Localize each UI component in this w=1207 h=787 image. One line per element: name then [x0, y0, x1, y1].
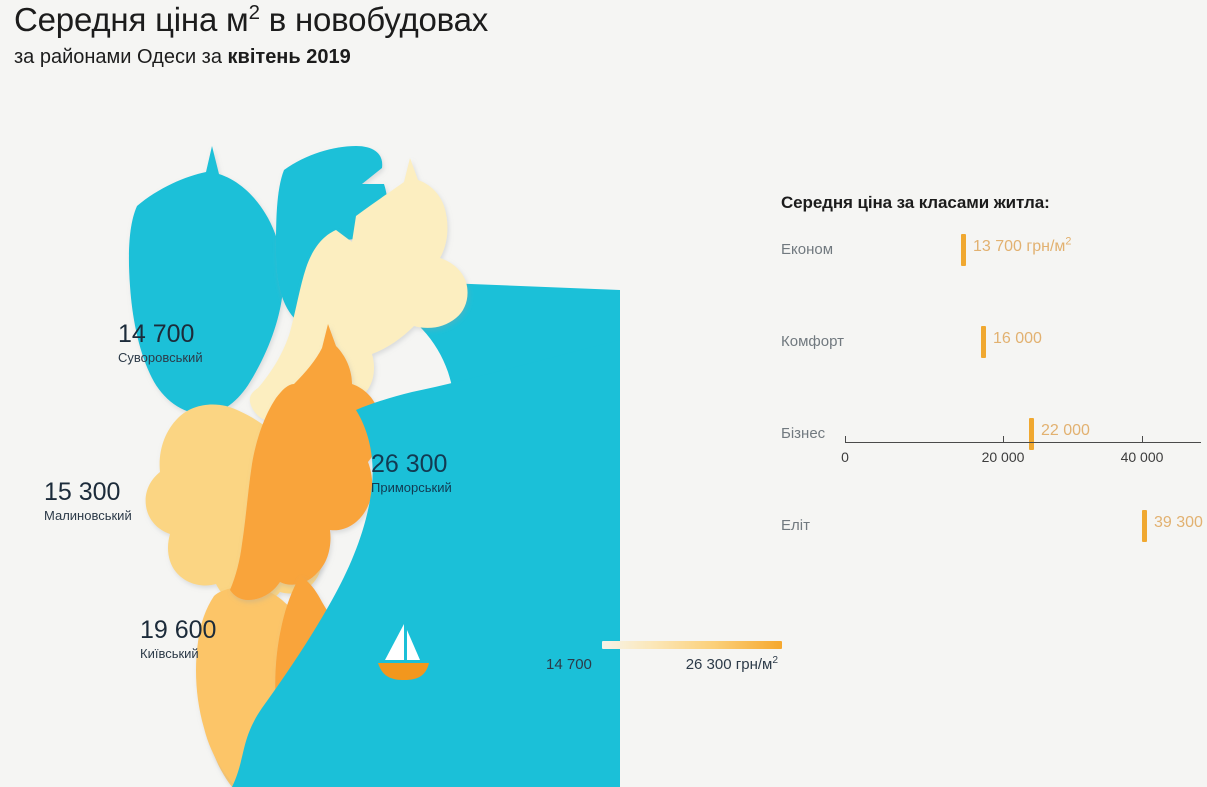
axis-tick-40000 — [1142, 436, 1143, 443]
housing-class-panel: Середня ціна за класами житла: Економ 13… — [781, 193, 1201, 447]
page-subtitle-lead: за районами Одеси за — [14, 46, 228, 68]
chart-bar-ekonom[interactable] — [961, 234, 966, 266]
page-subtitle: за районами Одеси за квітень 2019 — [14, 46, 774, 68]
chart-x-axis: 0 20 000 40 000 — [781, 429, 1201, 475]
page-title-tail: в новобудовах — [260, 1, 488, 38]
page-title-superscript: 2 — [249, 1, 260, 24]
legend-max-value: 26 300 грн/м2 — [686, 656, 778, 673]
header: Середня ціна м2 в новобудовах за районам… — [14, 2, 774, 68]
chart-value-elit: 39 300 — [1154, 514, 1203, 532]
chart-bar-komfort[interactable] — [981, 326, 986, 358]
chart-bar-elit[interactable] — [1142, 510, 1147, 542]
chart-value-komfort: 16 000 — [993, 330, 1042, 348]
legend-max-number: 26 300 — [686, 656, 732, 673]
odesa-district-map[interactable]: 14 700 Суворовський 15 300 Малиновський … — [0, 110, 620, 787]
axis-label-20000: 20 000 — [982, 449, 1025, 465]
chart-category-elit: Еліт — [781, 517, 810, 534]
page-title: Середня ціна м2 в новобудовах — [14, 2, 774, 39]
chart-value-ekonom-unit-sup: 2 — [1065, 236, 1071, 248]
chart-row-ekonom[interactable]: Економ 13 700 грн/м2 — [781, 232, 1201, 278]
chart-value-ekonom-number: 13 700 — [973, 238, 1022, 255]
infographic-root: Середня ціна м2 в новобудовах за районам… — [0, 0, 1207, 787]
legend-scale-labels: 14 700 26 300 грн/м2 — [546, 656, 778, 673]
axis-tick-20000 — [1003, 436, 1004, 443]
page-title-main: Середня ціна м — [14, 1, 249, 38]
legend-min-value: 14 700 — [546, 656, 592, 673]
housing-class-chart[interactable]: Економ 13 700 грн/м2 Комфорт 16 000 Бізн… — [781, 232, 1201, 447]
axis-tick-0 — [845, 436, 846, 443]
chart-value-ekonom-unit: грн/м — [1022, 238, 1065, 255]
chart-category-komfort: Комфорт — [781, 333, 844, 350]
legend-unit-superscript: 2 — [772, 655, 778, 666]
legend-gradient-bar — [602, 641, 782, 649]
map-color-legend: 14 700 26 300 грн/м2 — [546, 641, 786, 673]
chart-row-elit[interactable]: Еліт 39 300 — [781, 508, 1201, 554]
chart-value-ekonom: 13 700 грн/м2 — [973, 238, 1071, 256]
chart-row-komfort[interactable]: Комфорт 16 000 — [781, 324, 1201, 370]
map-svg — [0, 110, 620, 787]
liman-khadzhibey — [129, 146, 283, 414]
legend-unit-text: грн/м — [736, 656, 773, 673]
panel-title: Середня ціна за класами житла: — [781, 193, 1201, 213]
axis-label-0: 0 — [841, 449, 849, 465]
page-subtitle-period: квітень 2019 — [228, 46, 351, 68]
chart-category-ekonom: Економ — [781, 241, 833, 258]
axis-label-40000: 40 000 — [1121, 449, 1164, 465]
axis-line — [845, 442, 1201, 443]
